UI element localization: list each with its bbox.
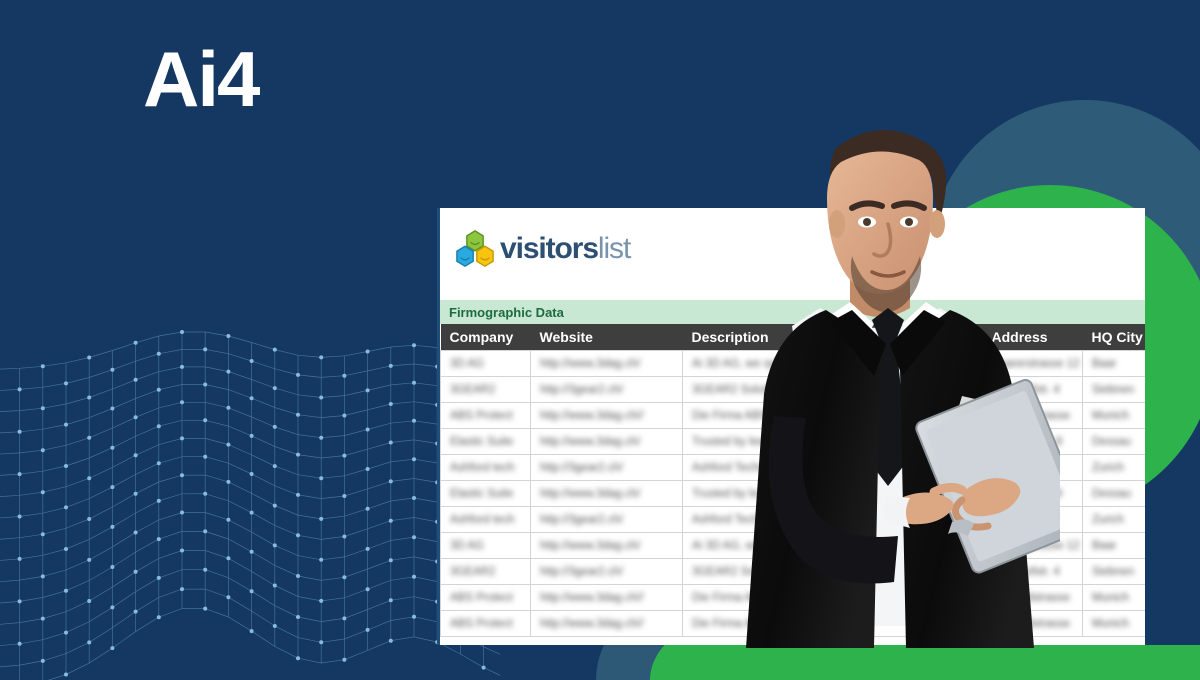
cell-website[interactable]: http://www.3dag.ch//: [531, 585, 683, 611]
cell-website[interactable]: http://3gear2.ch/: [531, 559, 683, 585]
cell-company[interactable]: ABS Protect: [441, 403, 531, 429]
cell-hq-city[interactable]: Munich: [1083, 585, 1146, 611]
cell-company[interactable]: Ashford tech: [441, 507, 531, 533]
cell-website[interactable]: http://www.3dag.ch//: [531, 611, 683, 637]
cell-company[interactable]: 3GEAR2: [441, 377, 531, 403]
cell-company[interactable]: 3D AG: [441, 351, 531, 377]
cell-website[interactable]: http://www.3dag.ch//: [531, 403, 683, 429]
cell-website[interactable]: http://3gear2.ch/: [531, 455, 683, 481]
cell-website[interactable]: http://www.3dag.ch/: [531, 481, 683, 507]
column-header-company[interactable]: Company: [441, 324, 531, 351]
visitorslist-wordmark: visitorslist: [500, 234, 630, 264]
cell-hq-city[interactable]: Munich: [1083, 611, 1146, 637]
businessman-with-tablet-photo: [700, 96, 1060, 648]
cell-company[interactable]: 3GEAR2: [441, 559, 531, 585]
green-block-decor: [736, 645, 1200, 680]
logo-text-primary: visitors: [500, 232, 598, 265]
cell-hq-city[interactable]: Siebnen: [1083, 559, 1146, 585]
cell-website[interactable]: http://3gear2.ch/: [531, 507, 683, 533]
logo-text-secondary: list: [598, 232, 630, 265]
cell-website[interactable]: http://3gear2.ch/: [531, 377, 683, 403]
cell-hq-city[interactable]: Baar: [1083, 351, 1146, 377]
cell-hq-city[interactable]: Dessau: [1083, 429, 1146, 455]
cell-company[interactable]: ABS Protect: [441, 611, 531, 637]
cell-website[interactable]: http://www.3dag.ch/: [531, 351, 683, 377]
hexagon-cluster-icon: [454, 230, 496, 268]
cell-hq-city[interactable]: Zurich: [1083, 455, 1146, 481]
column-header-website[interactable]: Website: [531, 324, 683, 351]
column-header-hq-city[interactable]: HQ City: [1083, 324, 1146, 351]
cell-website[interactable]: http://www.3dag.ch/: [531, 429, 683, 455]
cell-hq-city[interactable]: Zurich: [1083, 507, 1146, 533]
cell-company[interactable]: Elastic Suite: [441, 481, 531, 507]
cell-hq-city[interactable]: Dessau: [1083, 481, 1146, 507]
cell-website[interactable]: http://www.3dag.ch/: [531, 533, 683, 559]
wireframe-mesh-icon: [0, 330, 500, 680]
cell-hq-city[interactable]: Baar: [1083, 533, 1146, 559]
ai4-logo: Ai4: [143, 40, 258, 118]
cell-hq-city[interactable]: Siebnen: [1083, 377, 1146, 403]
cell-company[interactable]: ABS Protect: [441, 585, 531, 611]
cell-hq-city[interactable]: Munich: [1083, 403, 1146, 429]
cell-company[interactable]: Elastic Suite: [441, 429, 531, 455]
cell-company[interactable]: 3D AG: [441, 533, 531, 559]
cell-company[interactable]: Ashford tech: [441, 455, 531, 481]
